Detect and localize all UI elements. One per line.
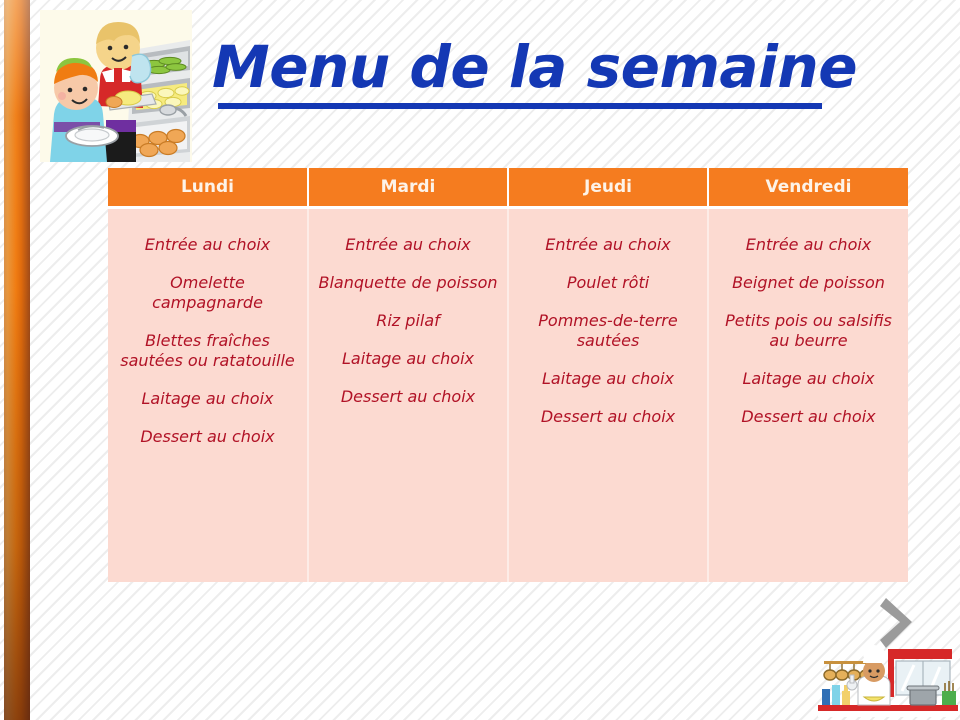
left-accent-bar-shading [4, 0, 30, 720]
menu-dish: Petits pois ou salsifis au beurre [715, 311, 902, 351]
menu-dish: Laitage au choix [715, 369, 902, 389]
menu-cell-vendredi: Entrée au choix Beignet de poisson Petit… [708, 208, 908, 583]
column-header-vendredi: Vendredi [708, 168, 908, 208]
menu-dish: Omelette campagnarde [114, 273, 301, 313]
page-title: Menu de la semaine [212, 34, 832, 100]
menu-dish: Entrée au choix [114, 235, 301, 255]
menu-dish: Entrée au choix [515, 235, 701, 255]
table-header-row: Lundi Mardi Jeudi Vendredi [108, 168, 908, 208]
slide-canvas: Menu de la semaine Lundi Mardi Jeudi Ven… [0, 0, 960, 720]
column-header-lundi: Lundi [108, 168, 308, 208]
menu-cell-jeudi: Entrée au choix Poulet rôti Pommes-de-te… [508, 208, 708, 583]
column-header-jeudi: Jeudi [508, 168, 708, 208]
menu-cell-mardi: Entrée au choix Blanquette de poisson Ri… [308, 208, 508, 583]
menu-dish: Pommes-de-terre sautées [515, 311, 701, 351]
title-underline [218, 103, 822, 109]
menu-dish: Poulet rôti [515, 273, 701, 293]
table-row: Entrée au choix Omelette campagnarde Ble… [108, 208, 908, 583]
menu-dish: Dessert au choix [315, 387, 501, 407]
menu-dish: Laitage au choix [515, 369, 701, 389]
menu-dish: Dessert au choix [114, 427, 301, 447]
menu-dish: Entrée au choix [715, 235, 902, 255]
weekly-menu-table: Lundi Mardi Jeudi Vendredi Entrée au cho… [108, 168, 908, 582]
canteen-serving-image [40, 10, 192, 162]
menu-dish: Riz pilaf [315, 311, 501, 331]
menu-dish: Entrée au choix [315, 235, 501, 255]
column-header-mardi: Mardi [308, 168, 508, 208]
menu-dish: Laitage au choix [315, 349, 501, 369]
menu-dish: Dessert au choix [715, 407, 902, 427]
menu-cell-lundi: Entrée au choix Omelette campagnarde Ble… [108, 208, 308, 583]
menu-dish: Blettes fraîches sautées ou ratatouille [114, 331, 301, 371]
chevron-right-icon [876, 596, 922, 650]
menu-dish: Laitage au choix [114, 389, 301, 409]
page-title-block: Menu de la semaine [212, 34, 832, 124]
chef-in-kitchen-image [818, 645, 958, 717]
menu-dish: Dessert au choix [515, 407, 701, 427]
menu-dish: Beignet de poisson [715, 273, 902, 293]
menu-dish: Blanquette de poisson [315, 273, 501, 293]
